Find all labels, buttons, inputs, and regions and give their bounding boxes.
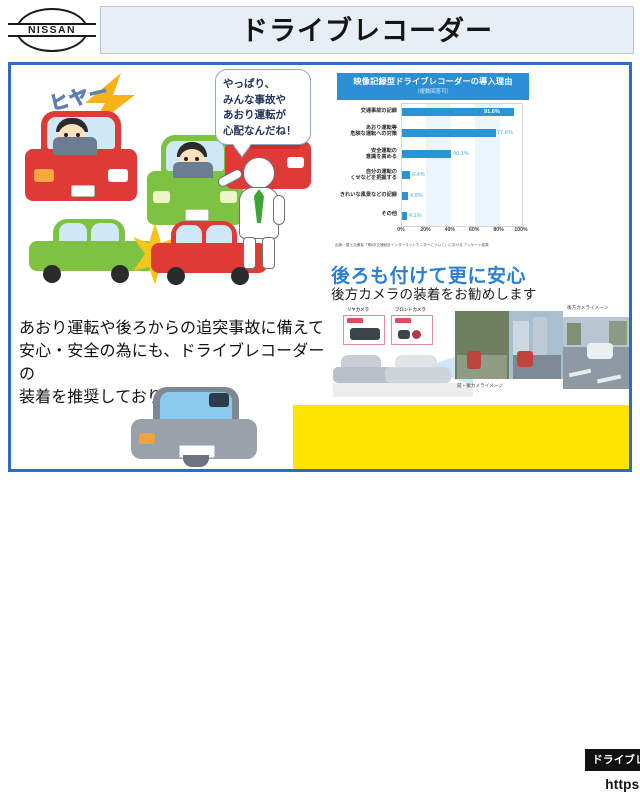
speech-line-0: やっぱり、 <box>223 78 275 90</box>
chart-band-1 <box>426 104 450 226</box>
car-silver-2 <box>385 355 451 385</box>
person-leg-left <box>243 237 256 269</box>
chart-xtick-4: 80% <box>493 227 503 233</box>
photo-rear-camera <box>563 317 629 389</box>
chart-label-4: きれいな風景などの記録 <box>335 192 397 198</box>
chart-xtick-5: 100% <box>514 227 527 233</box>
survey-chart-card: 映像記録型ドライブレコーダーの導入理由 （複数回答可） 交通事故の記録 あおり運… <box>333 69 533 257</box>
chart-bar-5 <box>402 212 407 220</box>
chart-value-3: 6.4% <box>412 171 425 179</box>
front-camera-label: フロントカメラ <box>395 307 426 313</box>
speech-bubble: やっぱり、 みんな事故や あおり運転が 心配なんだね！ <box>215 69 311 145</box>
chart-label-3: 自分の運転のくせなどを把握する <box>337 169 397 181</box>
chart-bar-3 <box>402 171 410 179</box>
chart-value-4: 4.6% <box>410 192 423 200</box>
chart-band-2 <box>475 104 499 226</box>
cta-banner-text: ドライブレコーダー搭載のメリット・注意点等は <box>585 749 640 771</box>
chart-label-2: 安全運転の意識を高める <box>337 148 397 160</box>
cta-url[interactable]: https://youtu.be/7w1pHc8k2_A <box>581 777 640 792</box>
person-arm <box>273 195 285 225</box>
chart-bar-2 <box>402 150 451 158</box>
chart-label-5: その他 <box>337 211 397 217</box>
chart-title: 映像記録型ドライブレコーダーの導入理由 <box>337 75 529 87</box>
necktie-icon <box>253 189 265 225</box>
page-title: ドライブレコーダー <box>101 7 633 55</box>
chart-xtick-3: 60% <box>469 227 479 233</box>
photo-caption-0: 前・後カメライメージ <box>457 383 503 389</box>
chart-xtick-2: 40% <box>445 227 455 233</box>
dashcam-device-icon <box>209 393 229 407</box>
chart-xtick-1: 20% <box>420 227 430 233</box>
title-bar: ドライブレコーダー <box>100 6 634 54</box>
body-copy-line-1: 安心・安全の為にも、ドライブレコーダーの <box>19 343 324 383</box>
photo-front-rear-camera <box>455 311 563 379</box>
cta-arrow-bar: ドライブレコーダー搭載のメリット・注意点等は <box>585 749 640 771</box>
person-leg-right <box>262 237 275 269</box>
chart-source-note: 出典：国土交通省「第8次交通統計インターネットモニターについて」における アンケ… <box>335 243 533 248</box>
businessman-figure <box>217 155 303 273</box>
main-panel: ヒヤー <box>8 62 632 472</box>
chart-label-1: あおり運転等危険な運転への対策 <box>337 125 397 137</box>
logo-wordmark: NISSAN <box>8 23 96 37</box>
chart-plot-area: 交通事故の記録 あおり運転等危険な運転への対策 安全運転の意識を高める 自分の運… <box>337 103 529 241</box>
chart-bar-4 <box>402 192 408 200</box>
speech-line-3: 心配なんだね！ <box>223 125 297 137</box>
rear-camera-thumb <box>343 315 385 345</box>
body-copy-line-0: あおり運転や後ろからの追突事故に備えて <box>19 320 324 337</box>
speech-line-1: みんな事故や <box>223 94 286 106</box>
chart-title-bar: 映像記録型ドライブレコーダーの導入理由 （複数回答可） <box>337 73 529 100</box>
chart-subtitle: （複数回答可） <box>337 87 529 95</box>
speech-bubble-text: やっぱり、 みんな事故や あおり運転が 心配なんだね！ <box>223 77 307 139</box>
person-raised-arm <box>216 167 244 188</box>
front-camera-thumb <box>391 315 433 345</box>
chart-bars: 91.6% 77.0% 40.1% 6.4% 4.6% 4.1% <box>401 103 523 227</box>
page-header: NISSAN ドライブレコーダー <box>0 0 640 58</box>
camera-placement-diagram: リヤカメラ フロントカメラ <box>333 307 473 399</box>
cta-banner: ドライブレコーダー搭載のメリット・注意点等は https://youtu.be/… <box>293 405 629 469</box>
rear-camera-label: リヤカメラ <box>347 307 369 313</box>
chart-x-axis: 0% 20% 40% 60% 80% 100% <box>401 227 523 237</box>
chart-value-1: 77.0% <box>497 129 513 137</box>
car-red-front <box>25 111 137 209</box>
chart-value-5: 4.1% <box>409 212 422 220</box>
photo-caption-1: 後方カメライメージ <box>567 305 608 311</box>
person-head <box>243 157 275 189</box>
promo-subheading: 後方カメラの装着をお勧めします <box>331 283 631 303</box>
chart-value-2: 40.1% <box>453 150 469 158</box>
chart-category-labels: 交通事故の記録 あおり運転等危険な運転への対策 安全運転の意識を高める 自分の運… <box>337 103 399 227</box>
speech-line-2: あおり運転が <box>223 109 286 121</box>
slide-root: NISSAN ドライブレコーダー ヒヤー <box>0 0 640 480</box>
dashcam-car-illustration <box>131 387 257 469</box>
chart-value-0: 91.6% <box>484 108 500 116</box>
chart-xtick-0: 0% <box>397 227 405 233</box>
nissan-logo: NISSAN <box>8 8 96 52</box>
chart-label-0: 交通事故の記録 <box>337 108 397 114</box>
chart-bar-1 <box>402 129 496 137</box>
